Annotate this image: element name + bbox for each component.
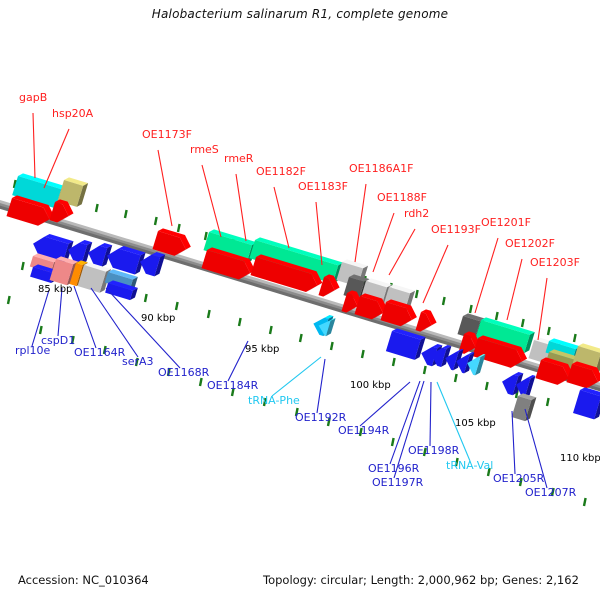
gene-label-reverse-sera3[interactable]: serA3 (122, 356, 154, 367)
genome-map-figure: Halobacterium salinarum R1, complete gen… (0, 0, 600, 600)
gene-label-reverse-leader (58, 288, 62, 336)
gc-tick (416, 290, 418, 298)
gc-tick (239, 318, 241, 326)
gene-label-forward-leader (355, 184, 366, 262)
gene-OE1207R[interactable] (573, 386, 600, 420)
gc-tick (208, 310, 210, 318)
gene-label-reverse-oe1196r[interactable]: OE1196R (368, 463, 419, 474)
gc-tick (270, 326, 272, 334)
gene-label-forward-hsp20a[interactable]: hsp20A (52, 108, 93, 119)
scale-tick-110-kbp: 110 kbp (560, 454, 600, 464)
scale-tick-90-kbp: 90 kbp (141, 314, 175, 324)
gc-tick (574, 334, 576, 342)
gene-label-forward-leader (423, 245, 448, 303)
gene-label-forward-leader (538, 278, 547, 340)
gc-tick (443, 297, 445, 305)
gene-label-reverse-cspd1[interactable]: cspD1 (41, 335, 75, 346)
genome-summary-text: Topology: circular; Length: 2,000,962 bp… (263, 573, 579, 587)
gene-label-forward-oe1193f[interactable]: OE1193F (431, 224, 481, 235)
gene-label-forward-leader (274, 187, 289, 248)
gc-tick (40, 326, 42, 334)
gene-label-reverse-oe1198r[interactable]: OE1198R (408, 445, 459, 456)
gc-tick (155, 217, 157, 225)
gc-tick (362, 350, 364, 358)
gene-label-reverse-leader (512, 411, 515, 474)
gene-label-forward-leader (158, 150, 172, 226)
gene-label-forward-leader (202, 165, 221, 237)
gc-tick (392, 438, 394, 446)
rna-label-trna-val[interactable]: tRNA-Val (446, 460, 493, 471)
scale-tick-85-kbp: 85 kbp (38, 285, 72, 295)
scale-tick-95-kbp: 95 kbp (245, 345, 279, 355)
gene-label-forward-oe1201f[interactable]: OE1201F (481, 217, 531, 228)
gc-tick (205, 232, 207, 240)
gc-tick (522, 319, 524, 327)
gene-label-forward-oe1186a1f[interactable]: OE1186A1F (349, 163, 413, 174)
gene-label-reverse-leader (430, 382, 431, 446)
gene-label-forward-leader (389, 229, 415, 275)
gene-label-forward-leader (373, 213, 394, 272)
gc-tick (178, 224, 180, 232)
gene-label-reverse-leader (317, 359, 325, 413)
gc-tick (331, 342, 333, 350)
gene-label-forward-oe1188f[interactable]: OE1188F (377, 192, 427, 203)
gc-tick (176, 302, 178, 310)
gc-tick (200, 378, 202, 386)
gene-label-forward-oe1173f[interactable]: OE1173F (142, 129, 192, 140)
genome-plot (0, 0, 600, 600)
gene-label-reverse-oe1184r[interactable]: OE1184R (207, 380, 258, 391)
gc-tick (125, 210, 127, 218)
gc-tick (486, 382, 488, 390)
scale-tick-100-kbp: 100 kbp (350, 381, 391, 391)
gene-label-forward-leader (507, 259, 522, 320)
gene-label-forward-oe1203f[interactable]: OE1203F (530, 257, 580, 268)
gc-tick (8, 296, 10, 304)
scale-tick-105-kbp: 105 kbp (455, 419, 496, 429)
gene-label-forward-rdh2[interactable]: rdh2 (404, 208, 429, 219)
gc-tick (96, 204, 98, 212)
gc-tick (547, 398, 549, 406)
gc-tick (300, 334, 302, 342)
gene-label-forward-leader (475, 238, 498, 313)
gc-tick (145, 294, 147, 302)
gene-label-reverse-leader (74, 286, 96, 348)
gc-tick (548, 327, 550, 335)
gene-label-reverse-oe1168r[interactable]: OE1168R (158, 367, 209, 378)
gene-label-reverse-oe1207r[interactable]: OE1207R (525, 487, 576, 498)
gene-label-forward-rmes[interactable]: rmeS (190, 144, 219, 155)
gene-label-forward-oe1182f[interactable]: OE1182F (256, 166, 306, 177)
gene-label-forward-leader (33, 113, 35, 178)
gene-label-forward-oe1202f[interactable]: OE1202F (505, 238, 555, 249)
gc-tick (455, 374, 457, 382)
gene-label-reverse-oe1192r[interactable]: OE1192R (295, 412, 346, 423)
gc-tick (584, 498, 586, 506)
gc-tick (470, 305, 472, 313)
gene-label-reverse-oe1205r[interactable]: OE1205R (493, 473, 544, 484)
accession-text: Accession: NC_010364 (18, 573, 149, 587)
gene-label-forward-leader (236, 174, 246, 241)
gc-tick (22, 262, 24, 270)
gene-label-forward-rmer[interactable]: rmeR (224, 153, 253, 164)
gene-label-reverse-oe1194r[interactable]: OE1194R (338, 425, 389, 436)
rna-label-trna-phe[interactable]: tRNA-Phe (248, 395, 300, 406)
gene-label-forward-leader (44, 129, 69, 188)
gene-label-reverse-oe1197r[interactable]: OE1197R (372, 477, 423, 488)
gene-label-forward-gapb[interactable]: gapB (19, 92, 47, 103)
gc-tick (496, 312, 498, 320)
rna-label-leader (272, 357, 321, 396)
gene-label-forward-oe1183f[interactable]: OE1183F (298, 181, 348, 192)
gc-tick (424, 366, 426, 374)
gc-tick (393, 358, 395, 366)
gene-label-reverse-oe1164r[interactable]: OE1164R (74, 347, 125, 358)
